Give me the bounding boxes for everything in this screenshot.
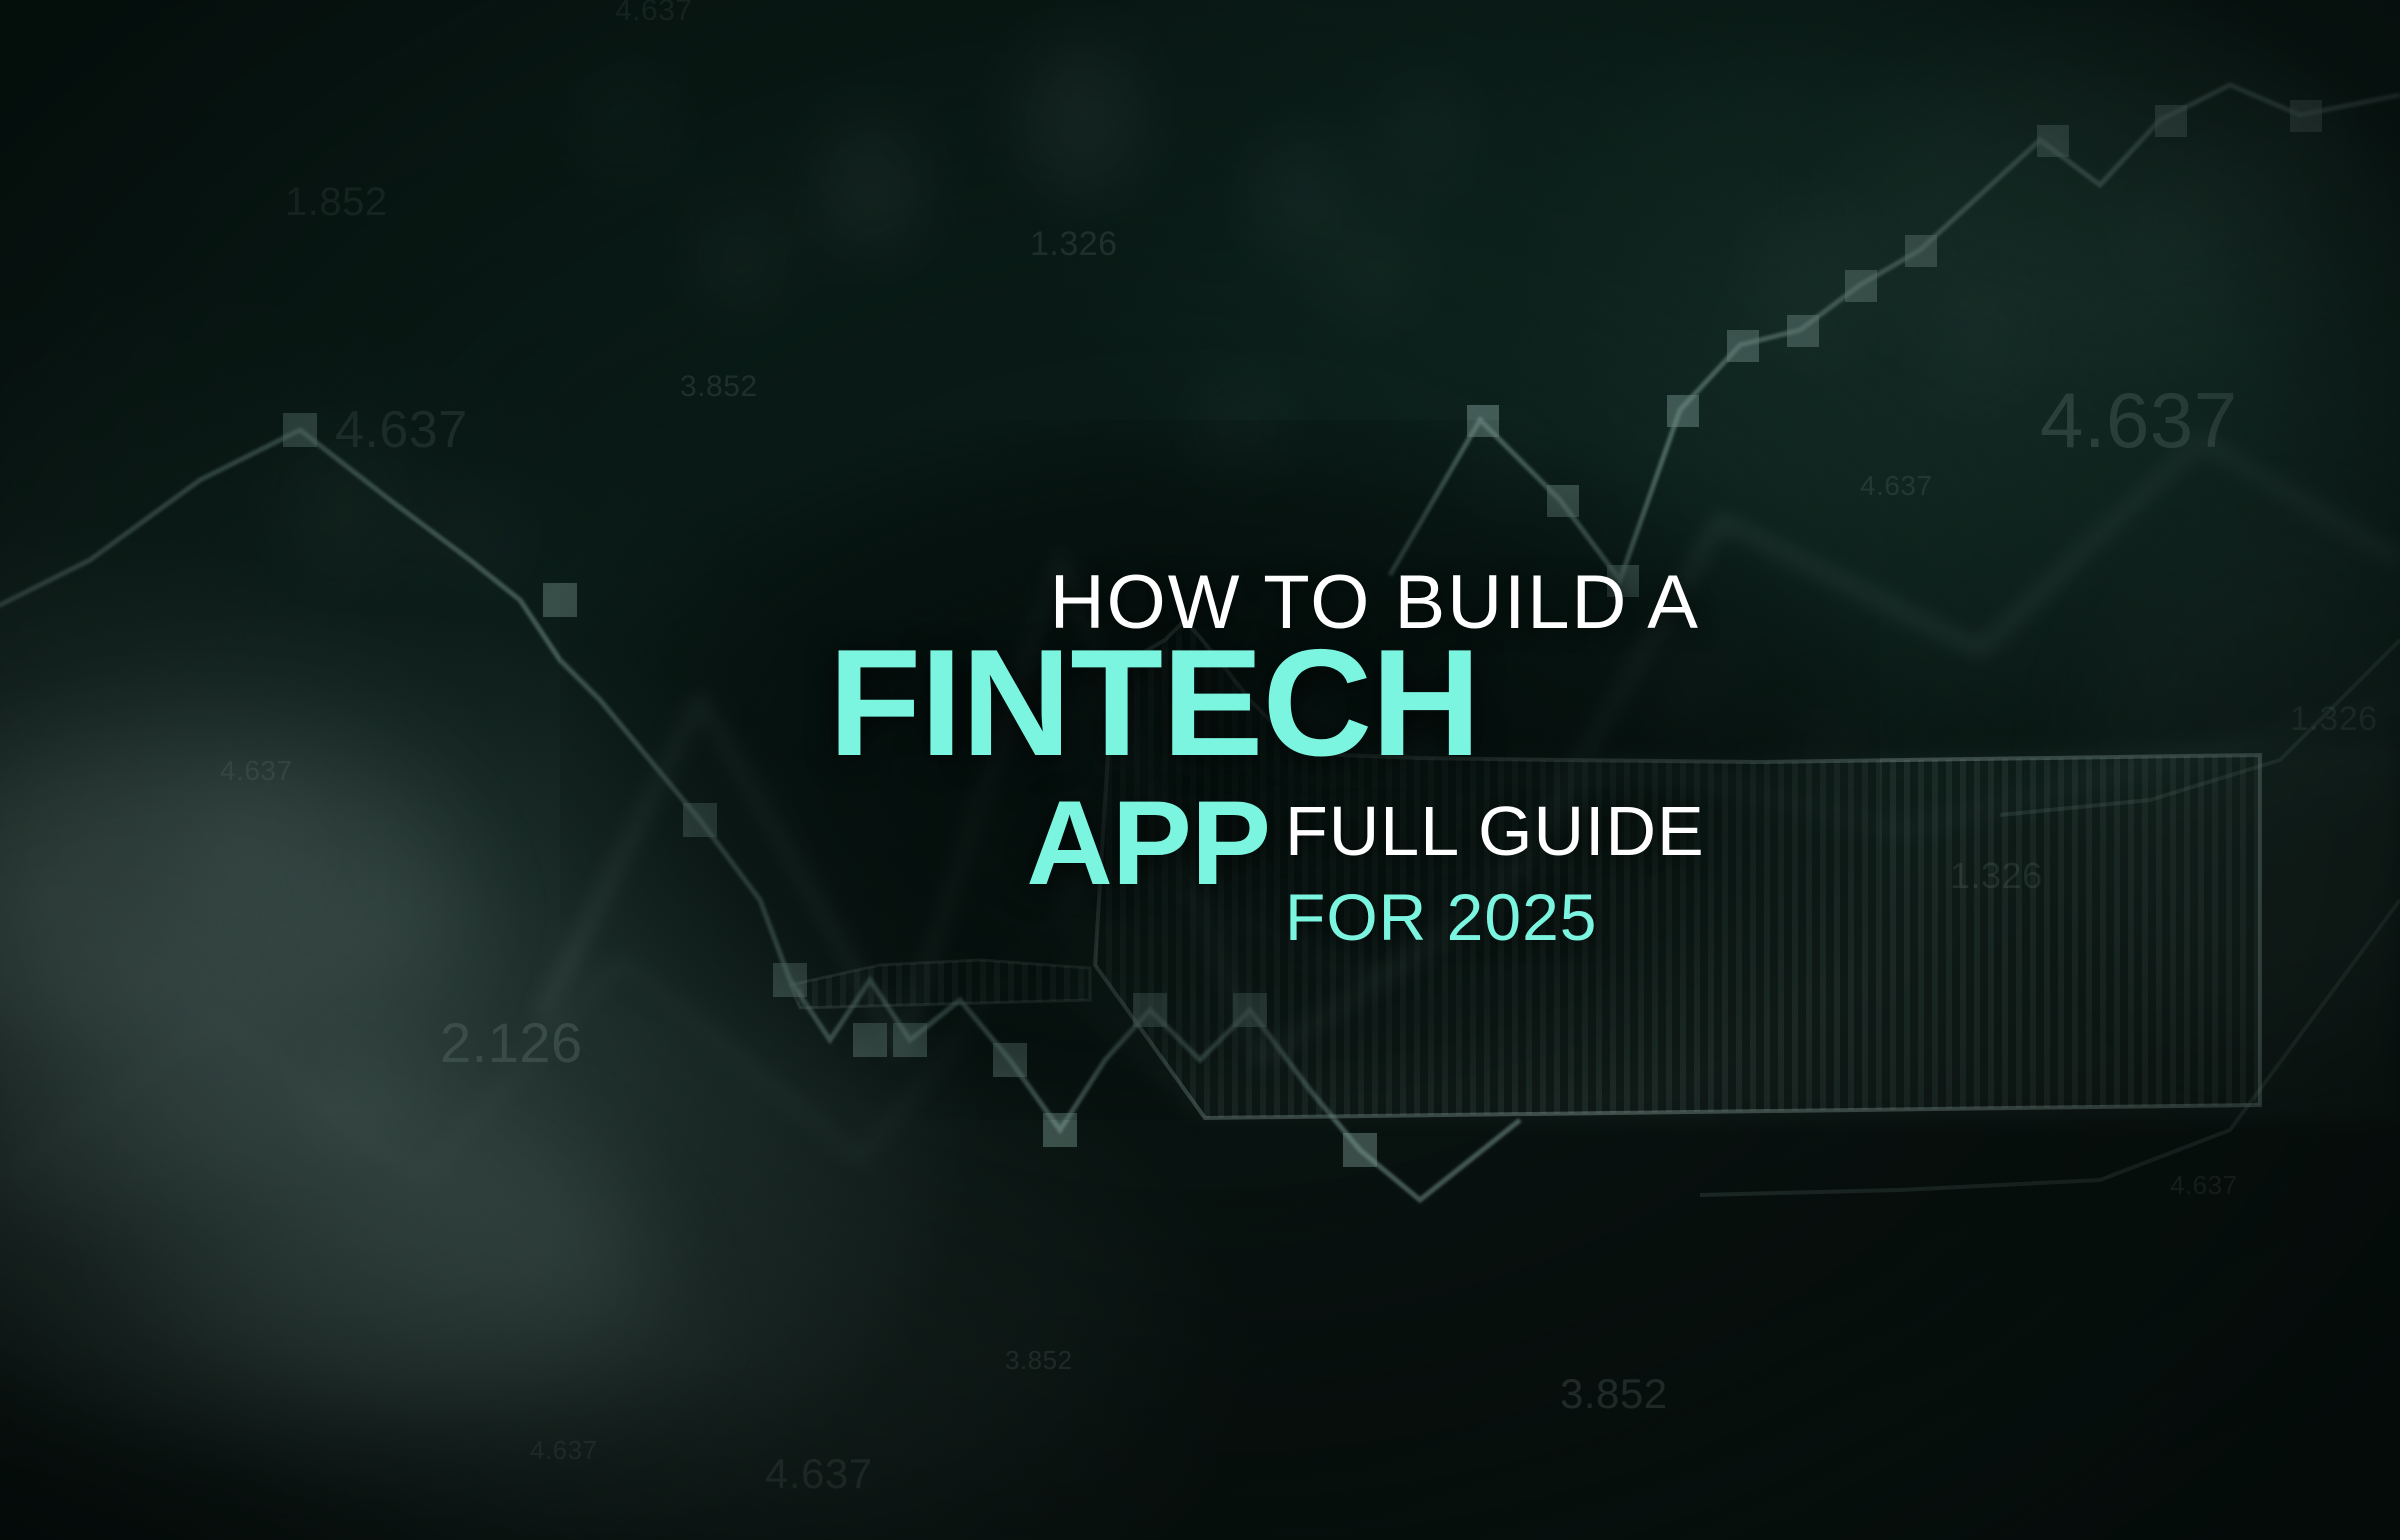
watermark-number: 3.852 [680, 370, 758, 404]
watermark-number: 3.852 [1560, 1370, 1668, 1418]
hero-banner: 4.637 1.852 4.637 1.326 3.852 4.637 4.63… [0, 0, 2400, 1540]
watermark-number: 1.326 [1950, 855, 2043, 897]
background-line-chart [0, 0, 2400, 1540]
watermark-number: 4.637 [1860, 470, 1933, 502]
watermark-number: 2.126 [440, 1010, 583, 1075]
watermark-number: 4.637 [765, 1450, 873, 1498]
watermark-number: 3.852 [1005, 1345, 1073, 1376]
watermark-number: 1.326 [1030, 225, 1118, 264]
watermark-number: 1.852 [285, 180, 388, 225]
watermark-number: 4.637 [2040, 375, 2238, 466]
watermark-number: 4.637 [2170, 1170, 2238, 1201]
watermark-number: 4.637 [615, 0, 693, 28]
watermark-number: 1.326 [2290, 700, 2378, 739]
watermark-number: 4.637 [335, 400, 468, 460]
watermark-number: 4.637 [220, 755, 293, 787]
watermark-number: 4.637 [530, 1435, 598, 1466]
